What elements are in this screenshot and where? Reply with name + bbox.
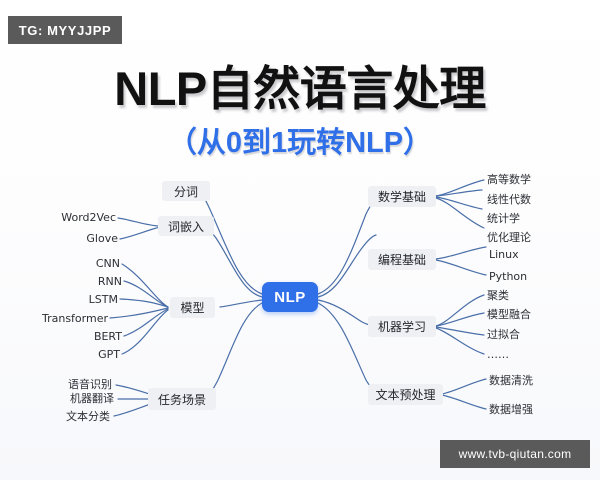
leaf-yuyinshibie[interactable]: 语音识别 xyxy=(24,378,112,392)
leaf-tongjixue[interactable]: 统计学 xyxy=(487,212,520,226)
branch-node-fenci[interactable]: 分词 xyxy=(162,181,210,201)
edge-moxing-transformer xyxy=(110,308,168,318)
site-watermark-badge: www.tvb-qiutan.com xyxy=(440,440,590,468)
site-watermark-text: www.tvb-qiutan.com xyxy=(459,447,572,461)
edge-jiqixuexi-julei xyxy=(436,295,484,326)
mindmap-diagram: NLP 分词 词嵌入 模型 任务场景 数学基础 编程基础 机器学习 文本预处理 … xyxy=(0,0,600,480)
leaf-shujuzengqiang[interactable]: 数据增强 xyxy=(489,403,533,417)
branch-node-renwuchangjing[interactable]: 任务场景 xyxy=(148,388,216,410)
leaf-linux[interactable]: Linux xyxy=(489,248,519,262)
edge-root-shuxuejichu xyxy=(318,196,380,294)
leaf-youhualilun[interactable]: 优化理论 xyxy=(487,231,531,245)
leaf-gaodengshuxue[interactable]: 高等数学 xyxy=(487,173,531,187)
edge-wenben-shujuzengqiang xyxy=(442,395,486,409)
leaf-shujuqingxi[interactable]: 数据清洗 xyxy=(489,374,533,388)
edge-ciqianru-glove xyxy=(120,227,160,239)
edge-jiqixuexi-more xyxy=(436,328,484,354)
edge-biancheng-linux xyxy=(436,247,486,259)
branch-label-shuxuejichu: 数学基础 xyxy=(378,188,426,205)
leaf-glove[interactable]: Glove xyxy=(28,232,118,246)
edge-jiqixuexi-moxingronghe xyxy=(436,313,484,326)
branch-label-wenbenyuchuli: 文本预处理 xyxy=(375,386,435,403)
leaf-julei[interactable]: 聚类 xyxy=(487,289,509,303)
leaf-python[interactable]: Python xyxy=(489,270,527,284)
leaf-wenbenfenlei[interactable]: 文本分类 xyxy=(24,410,110,424)
edge-wenben-shujuqingxi xyxy=(442,379,486,394)
leaf-transformer[interactable]: Transformer xyxy=(20,312,108,326)
edge-shuxue-xianxingdaishu xyxy=(436,190,482,196)
edge-moxing-gpt xyxy=(122,310,168,354)
leaf-xianxingdaishu[interactable]: 线性代数 xyxy=(487,193,531,207)
leaf-lstm[interactable]: LSTM xyxy=(28,293,118,307)
branch-label-fenci: 分词 xyxy=(174,183,198,200)
edge-shuxue-tongjixue xyxy=(436,197,482,209)
branch-label-renwuchangjing: 任务场景 xyxy=(158,391,206,408)
branch-label-ciqianru: 词嵌入 xyxy=(168,218,204,235)
edge-shuxue-gaodengshuxue xyxy=(436,180,484,196)
leaf-bert[interactable]: BERT xyxy=(28,330,122,344)
edge-root-moxing xyxy=(220,300,262,307)
branch-node-jiqixuexi[interactable]: 机器学习 xyxy=(368,316,436,337)
branch-node-shuxuejichu[interactable]: 数学基础 xyxy=(368,186,436,207)
leaf-guonihe[interactable]: 过拟合 xyxy=(487,328,520,342)
leaf-cnn[interactable]: CNN xyxy=(28,257,120,271)
edge-moxing-cnn xyxy=(122,264,168,307)
leaf-rnn[interactable]: RNN xyxy=(28,275,122,289)
edge-biancheng-python xyxy=(436,260,486,275)
leaf-gpt[interactable]: GPT xyxy=(28,348,120,362)
poster-canvas: TG: MYYJJPP NLP自然语言处理 （从0到1玩转NLP） xyxy=(0,0,600,480)
branch-label-bianchengjichu: 编程基础 xyxy=(378,251,426,268)
branch-label-moxing: 模型 xyxy=(180,299,204,316)
edge-root-ciqianru xyxy=(202,226,262,297)
branch-node-bianchengjichu[interactable]: 编程基础 xyxy=(368,249,436,270)
branch-node-moxing[interactable]: 模型 xyxy=(170,297,215,318)
mindmap-root-label: NLP xyxy=(274,289,306,306)
leaf-word2vec[interactable]: Word2Vec xyxy=(28,211,116,225)
edge-ciqianru-word2vec xyxy=(118,218,160,226)
leaf-ellipsis[interactable]: …… xyxy=(487,348,509,362)
leaf-moxingronghe[interactable]: 模型融合 xyxy=(487,308,531,322)
edge-shuxue-youhualilun xyxy=(436,198,484,228)
mindmap-root-node[interactable]: NLP xyxy=(262,282,318,312)
edge-root-fenci xyxy=(198,191,262,294)
branch-label-jiqixuexi: 机器学习 xyxy=(378,318,426,335)
leaf-jiqifanyi[interactable]: 机器翻译 xyxy=(24,392,114,406)
branch-node-wenbenyuchuli[interactable]: 文本预处理 xyxy=(368,384,443,405)
branch-node-ciqianru[interactable]: 词嵌入 xyxy=(158,216,214,236)
